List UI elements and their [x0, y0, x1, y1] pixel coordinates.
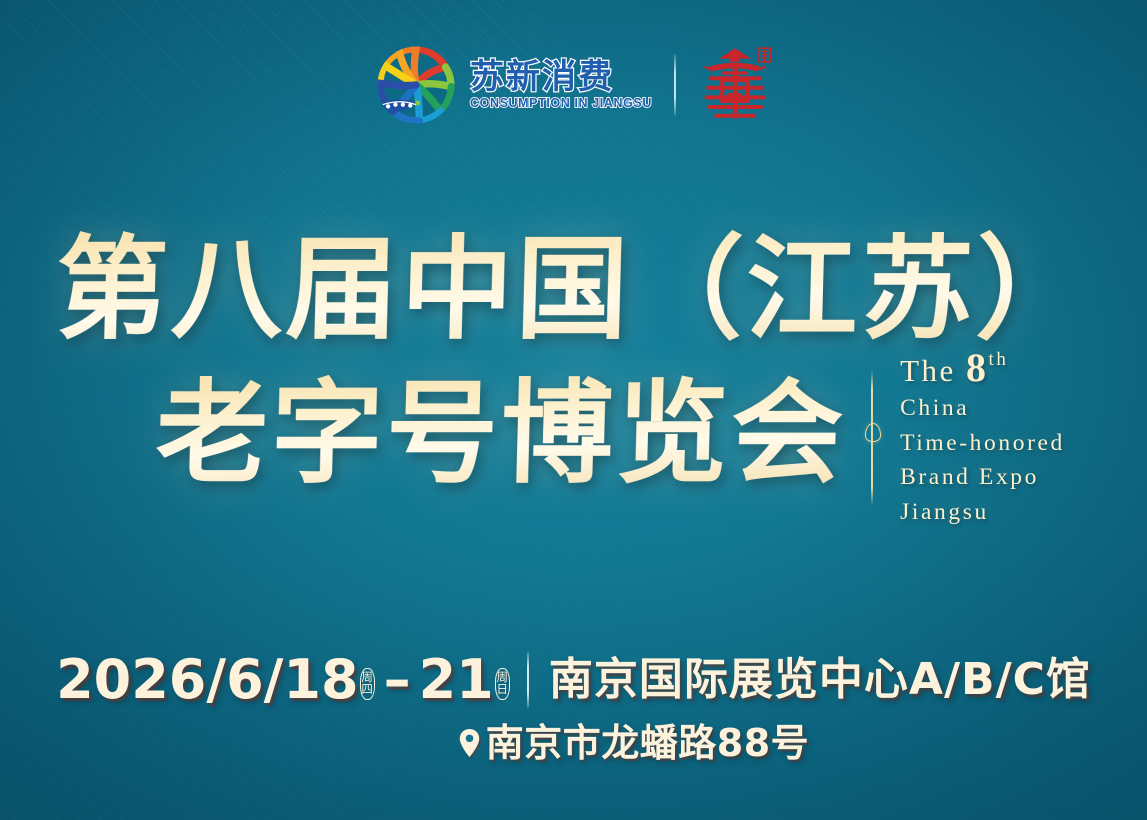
primary-logo-wordmark: 苏新消费 CONSUMPTION IN JIANGSU: [470, 60, 652, 110]
weekday-badge-start: 周 四: [360, 668, 375, 699]
date-range-dash: –: [376, 653, 419, 707]
title-english-line-5: Jiangsu: [900, 497, 1065, 528]
ornamental-divider: [864, 370, 880, 506]
footer-divider: [527, 652, 529, 708]
china-time-honored-brand-pagoda-seal-icon: [698, 45, 772, 125]
event-date: 2026 / 6 / 18 周 四 – 21 周 日: [56, 653, 511, 707]
date-month: 6: [226, 653, 264, 707]
jiangsu-consumption-swirl-logo-icon: [375, 44, 457, 126]
event-venue: 南京国际展览中心A/B/C馆: [549, 658, 1091, 702]
title-english-line-3: Time-honored: [900, 428, 1065, 459]
title-line-2: 老字号博览会: [154, 366, 848, 503]
date-slash-1: /: [206, 653, 226, 707]
title-line-2-row: 老字号博览会 The 8th China Time-honored Brand …: [0, 341, 1147, 528]
primary-logo: 苏新消费 CONSUMPTION IN JIANGSU: [375, 44, 652, 126]
date-slash-2: /: [264, 653, 284, 707]
location-pin-icon: [458, 728, 481, 758]
weekday-start-char-2: 四: [361, 684, 373, 696]
primary-logo-cn-name: 苏新消费: [470, 60, 652, 94]
date-day-end: 21: [419, 653, 494, 707]
footer-date-venue-row: 2026 / 6 / 18 周 四 – 21 周 日 南京国际展览中心A/B/C…: [56, 652, 1091, 708]
ornamental-gourd-icon: [865, 423, 881, 442]
date-day-start: 18: [283, 653, 358, 707]
footer-block: 2026 / 6 / 18 周 四 – 21 周 日 南京国际展览中心A/B/C…: [0, 652, 1147, 762]
logo-divider: [674, 54, 676, 116]
footer-address-row: 南京市龙蟠路88号: [338, 724, 809, 762]
title-english-line-4: Brand Expo: [900, 462, 1065, 493]
title-english-line-2: China: [900, 393, 1065, 424]
primary-logo-en-name: CONSUMPTION IN JIANGSU: [470, 97, 652, 110]
weekday-end-char-2: 日: [496, 684, 508, 696]
logo-bar: 苏新消费 CONSUMPTION IN JIANGSU: [0, 44, 1147, 126]
title-block: 第八届中国（江苏） 老字号博览会 The 8th China Time-hono…: [0, 222, 1147, 527]
weekday-badge-end: 周 日: [495, 668, 510, 699]
title-line-1: 第八届中国（江苏）: [54, 222, 1093, 359]
title-english-block: The 8th China Time-honored Brand Expo Ji…: [900, 341, 1065, 528]
poster-canvas: 苏新消费 CONSUMPTION IN JIANGSU: [0, 0, 1147, 820]
title-line-1-row: 第八届中国（江苏）: [0, 222, 1147, 359]
event-address: 南京市龙蟠路88号: [486, 724, 809, 762]
date-year: 2026: [56, 653, 206, 707]
